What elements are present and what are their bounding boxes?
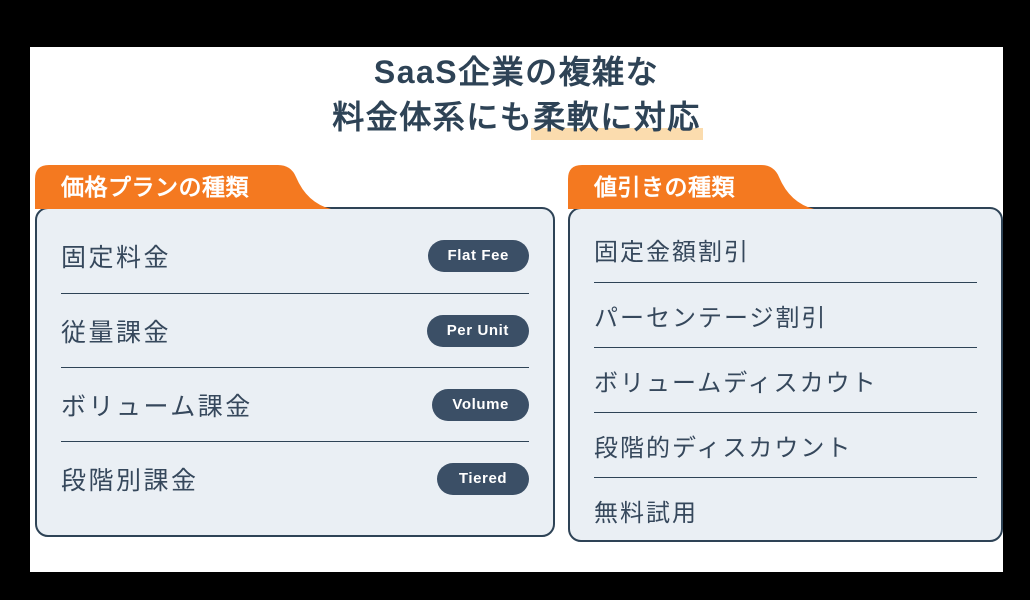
panels-container: 価格プランの種類 固定料金 Flat Fee 従量課金 Per Unit ボリュ…: [30, 165, 1003, 565]
discount-type-row[interactable]: パーセンテージ割引: [594, 282, 977, 347]
discount-type-label: 固定金額割引: [594, 232, 750, 267]
discount-type-row[interactable]: ボリュームディスカウト: [594, 347, 977, 412]
pricing-plan-label: 従量課金: [61, 313, 171, 349]
pricing-plan-row[interactable]: 従量課金 Per Unit: [61, 293, 529, 367]
pricing-plan-row[interactable]: 段階別課金 Tiered: [61, 441, 529, 515]
title-line-2: 料金体系にも柔軟に対応: [30, 95, 1003, 140]
discount-type-row[interactable]: 無料試用: [594, 477, 977, 542]
page-title: SaaS企業の複雑な 料金体系にも柔軟に対応: [30, 47, 1003, 141]
discount-type-label: パーセンテージ割引: [594, 298, 828, 333]
pricing-plans-tab[interactable]: 価格プランの種類: [35, 165, 555, 210]
title-line-2-plain-text: 料金体系にも: [332, 99, 533, 135]
discount-types-tab[interactable]: 値引きの種類: [568, 165, 1003, 210]
title-line-1: SaaS企業の複雑な: [30, 50, 1003, 95]
pricing-plans-panel: 価格プランの種類 固定料金 Flat Fee 従量課金 Per Unit ボリュ…: [35, 165, 555, 537]
discount-types-tab-label: 値引きの種類: [594, 165, 735, 210]
discount-type-label: ボリュームディスカウト: [594, 363, 878, 398]
slide-canvas: SaaS企業の複雑な 料金体系にも柔軟に対応 価格プランの種類 固定料金 Fla…: [30, 47, 1003, 572]
discount-types-panel: 値引きの種類 固定金額割引 パーセンテージ割引 ボリュームディスカウト 段階的デ…: [568, 165, 1003, 542]
pricing-plan-label: ボリューム課金: [61, 387, 253, 423]
pricing-plans-card: 固定料金 Flat Fee 従量課金 Per Unit ボリューム課金 Volu…: [35, 207, 555, 537]
pricing-plan-row[interactable]: ボリューム課金 Volume: [61, 367, 529, 441]
discount-types-card: 固定金額割引 パーセンテージ割引 ボリュームディスカウト 段階的ディスカウント …: [568, 207, 1003, 542]
pricing-plan-badge: Volume: [432, 389, 529, 421]
pricing-plan-badge: Flat Fee: [428, 240, 529, 272]
discount-type-row[interactable]: 段階的ディスカウント: [594, 412, 977, 477]
title-highlight: 柔軟に対応: [533, 95, 701, 140]
pricing-plan-badge: Tiered: [437, 463, 529, 495]
title-line-1-text: SaaS企業の複雑な: [374, 54, 659, 90]
discount-type-label: 無料試用: [594, 493, 698, 528]
discount-type-label: 段階的ディスカウント: [594, 428, 852, 463]
pricing-plan-label: 段階別課金: [61, 461, 199, 497]
pricing-plans-tab-label: 価格プランの種類: [61, 165, 249, 210]
discount-type-row[interactable]: 固定金額割引: [594, 217, 977, 282]
pricing-plan-badge: Per Unit: [427, 315, 529, 347]
pricing-plan-row[interactable]: 固定料金 Flat Fee: [61, 219, 529, 293]
pricing-plan-label: 固定料金: [61, 238, 171, 274]
